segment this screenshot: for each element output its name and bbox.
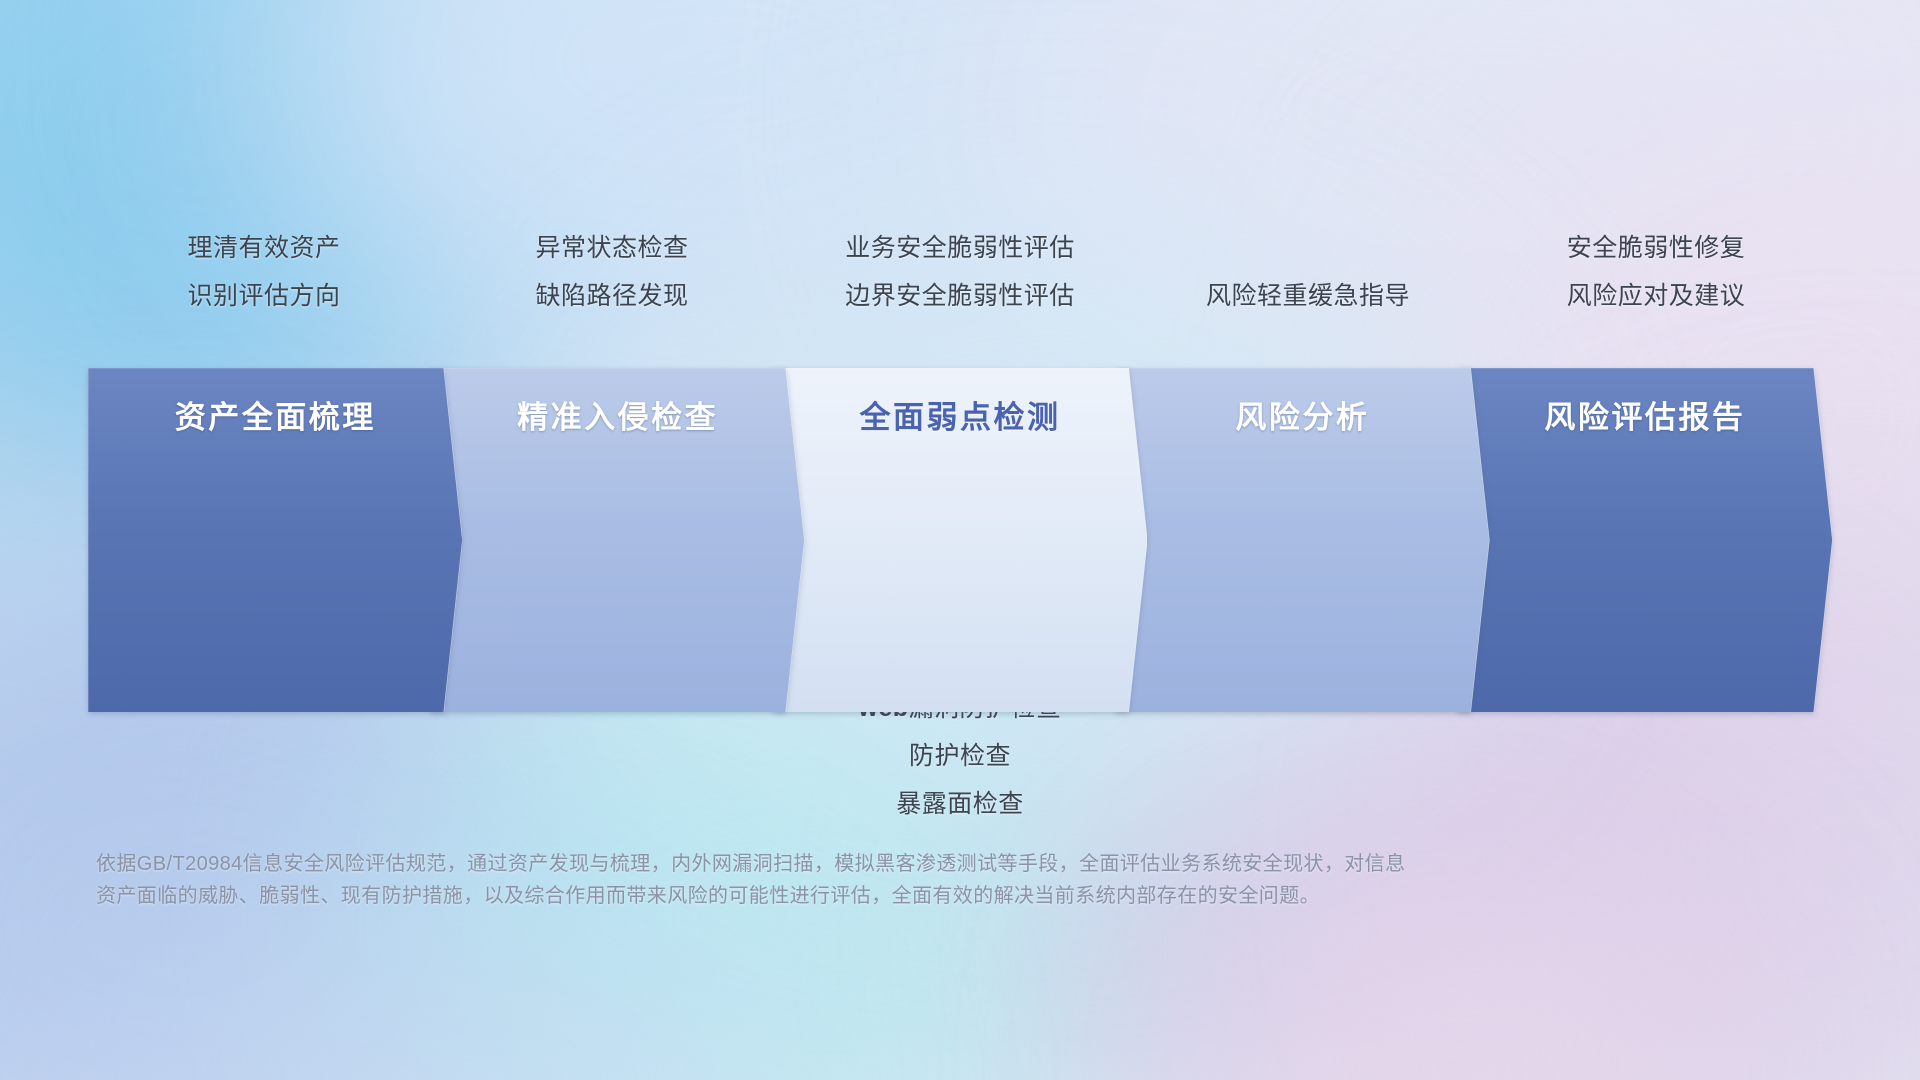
- top-label: 业务安全脆弱性评估: [794, 224, 1126, 272]
- chevron-stage-2[interactable]: 精准入侵检查: [430, 368, 804, 460]
- top-labels-stage-1: 理清有效资产识别评估方向: [90, 224, 438, 320]
- top-label: 安全脆弱性修复: [1490, 224, 1822, 272]
- top-labels-stage-3: 业务安全脆弱性评估边界安全脆弱性评估: [786, 224, 1134, 320]
- chevron-title: 风险评估报告: [1544, 392, 1745, 437]
- chevron-stage-5[interactable]: 风险评估报告: [1458, 368, 1832, 460]
- top-label: 边界安全脆弱性评估: [794, 272, 1126, 320]
- list-item: 防护检查: [792, 732, 1128, 780]
- chevron-title: 风险分析: [1235, 392, 1369, 437]
- footer-description: 依据GB/T20984信息安全风险评估规范，通过资产发现与梳理，内外网漏洞扫描，…: [96, 848, 1616, 912]
- top-label: 风险轻重缓急指导: [1142, 272, 1474, 320]
- top-label: 理清有效资产: [98, 224, 430, 272]
- chevron-title: 资产全面梳理: [175, 392, 376, 437]
- chevron-stage-4[interactable]: 风险分析: [1115, 368, 1489, 460]
- top-labels-row: 理清有效资产识别评估方向异常状态检查缺陷路径发现业务安全脆弱性评估边界安全脆弱性…: [90, 224, 1830, 320]
- chevron-title: 精准入侵检查: [517, 392, 718, 437]
- chevron-process-banner: 资产全面梳理精准入侵检查全面弱点检测风险分析风险评估报告: [88, 368, 1832, 460]
- chevron-stage-1[interactable]: 资产全面梳理: [88, 368, 462, 460]
- top-label: 异常状态检查: [446, 224, 778, 272]
- top-label: 识别评估方向: [98, 272, 430, 320]
- chevron-stage-3[interactable]: 全面弱点检测: [773, 368, 1147, 460]
- footer-line-1: 依据GB/T20984信息安全风险评估规范，通过资产发现与梳理，内外网漏洞扫描，…: [96, 848, 1616, 880]
- process-flow-infographic: 理清有效资产识别评估方向异常状态检查缺陷路径发现业务安全脆弱性评估边界安全脆弱性…: [0, 0, 1920, 1080]
- list-item: 暴露面检查: [792, 780, 1128, 828]
- top-labels-stage-5: 安全脆弱性修复风险应对及建议: [1482, 224, 1830, 320]
- label-spacer: [1142, 224, 1474, 272]
- top-labels-stage-2: 异常状态检查缺陷路径发现: [438, 224, 786, 320]
- top-labels-stage-4: 风险轻重缓急指导: [1134, 224, 1482, 320]
- top-label: 风险应对及建议: [1490, 272, 1822, 320]
- footer-line-2: 资产面临的威胁、脆弱性、现有防护措施，以及综合作用而带来风险的可能性进行评估，全…: [96, 880, 1616, 912]
- top-label: 缺陷路径发现: [446, 272, 778, 320]
- chevron-title: 全面弱点检测: [860, 392, 1061, 437]
